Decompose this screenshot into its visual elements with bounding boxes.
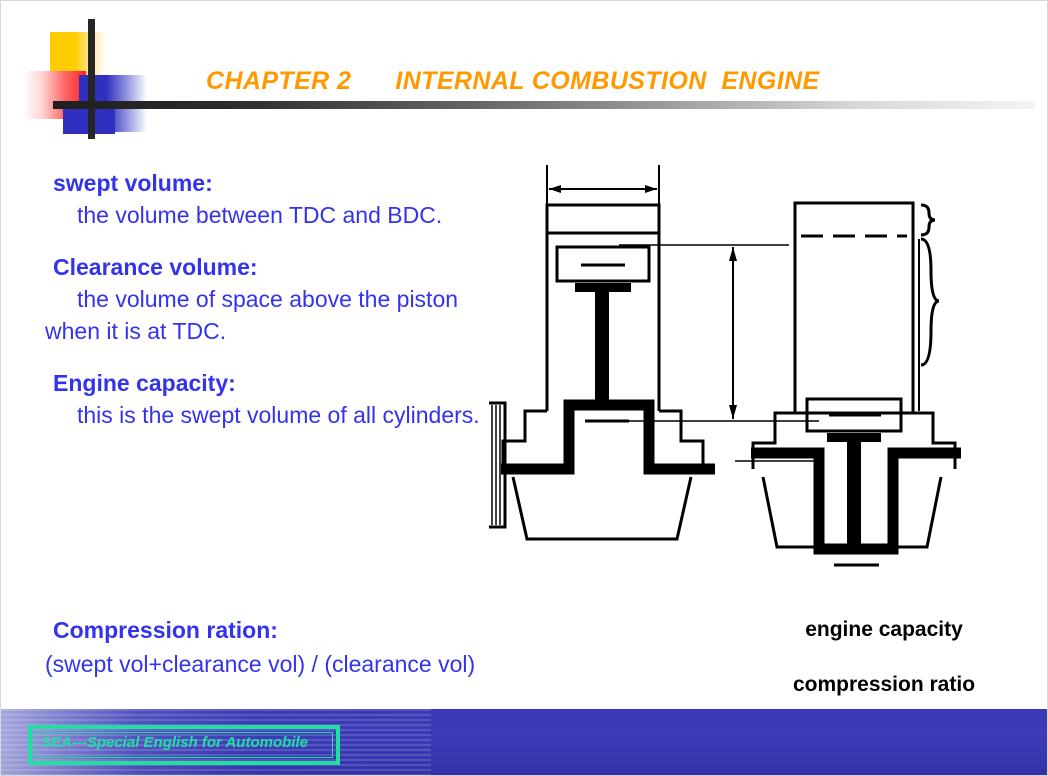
compression-ratio-block: Compression ration: (swept vol+clearance… xyxy=(45,613,565,681)
slide: CHAPTER 2 INTERNAL COMBUSTION ENGINE swe… xyxy=(0,0,1048,776)
definition-heading: swept volume: xyxy=(53,167,515,199)
definition-body: the volume between TDC and BDC. xyxy=(45,199,515,231)
definition-block-engine-capacity: Engine capacity: this is the swept volum… xyxy=(45,367,515,431)
logo-vertical-rule xyxy=(88,19,95,139)
header-horizontal-rule xyxy=(53,101,1035,109)
definition-body-text: the volume between TDC and BDC. xyxy=(77,202,442,228)
definition-heading: Engine capacity: xyxy=(53,367,515,399)
compression-formula: (swept vol+clearance vol) / (clearance v… xyxy=(45,647,565,681)
footer-label: SEA---Special English for Automobile xyxy=(41,734,308,751)
slide-title: CHAPTER 2 INTERNAL COMBUSTION ENGINE xyxy=(206,67,820,96)
engine-diagram: Bore TDC Stroke Clearance volume Swept v… xyxy=(489,153,1048,573)
engine-diagram-svg xyxy=(489,153,1048,573)
note-engine-capacity: engine capacity xyxy=(739,618,1029,642)
note-compression-ratio: compression ratio xyxy=(739,673,1029,697)
compression-heading: Compression ration: xyxy=(53,613,565,647)
definition-body: this is the swept volume of all cylinder… xyxy=(45,399,515,431)
definition-block-clearance-volume: Clearance volume: the volume of space ab… xyxy=(45,251,515,347)
definition-body-text: this is the swept volume of all cylinder… xyxy=(77,402,480,428)
definition-heading: Clearance volume: xyxy=(53,251,515,283)
definition-list: swept volume: the volume between TDC and… xyxy=(45,167,515,451)
definition-body-text: the volume of space above the piston whe… xyxy=(45,286,458,344)
definition-block-swept-volume: swept volume: the volume between TDC and… xyxy=(45,167,515,231)
definition-body: the volume of space above the piston whe… xyxy=(45,283,515,347)
